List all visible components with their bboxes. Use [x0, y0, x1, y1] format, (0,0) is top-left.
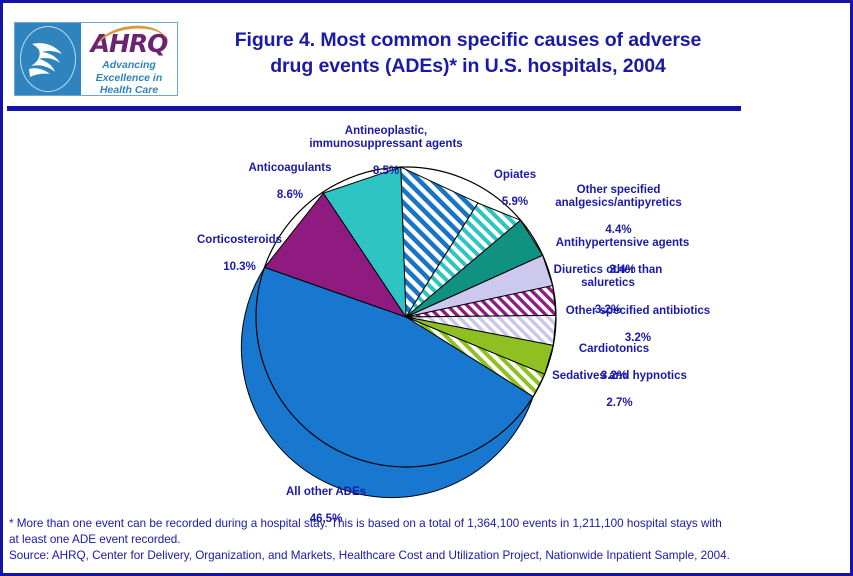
- footnote-source: Source: AHRQ, Center for Delivery, Organ…: [9, 548, 845, 564]
- label-sedatives-name: Sedatives and hypnotics: [537, 370, 702, 384]
- label-anticoagulants: Anticoagulants 8.6%: [235, 148, 345, 216]
- eagle-glyph-icon: [26, 36, 70, 82]
- pie-chart-area: Antineoplastic, immunosuppressant agents…: [3, 111, 850, 511]
- footnote-line2: at least one ADE event recorded.: [9, 532, 845, 548]
- figure-title-line2: drug events (ADEs)* in U.S. hospitals, 2…: [188, 53, 748, 79]
- ahrq-tagline-line3: Health Care: [85, 84, 173, 97]
- figure-title: Figure 4. Most common specific causes of…: [188, 27, 748, 79]
- label-cardiotonics-name: Cardiotonics: [554, 343, 674, 357]
- figure-page: AHRQ Advancing Excellence in Health Care…: [0, 0, 853, 576]
- label-sedatives: Sedatives and hypnotics 2.7%: [537, 356, 702, 424]
- label-corticosteroids-value: 10.3%: [177, 261, 302, 275]
- label-antibiotics-name: Other specified antibiotics: [558, 305, 718, 319]
- ahrq-tagline: Advancing Excellence in Health Care: [85, 59, 173, 97]
- figure-footnotes: * More than one event can be recorded du…: [9, 516, 845, 564]
- label-diuretics-name: Diuretics other than saluretics: [528, 264, 688, 291]
- ahrq-logo-text: AHRQ Advancing Excellence in Health Care: [81, 23, 177, 95]
- label-all-other-ades-name: All other ADEs: [251, 486, 401, 500]
- hhs-eagle-seal-icon: [15, 23, 81, 95]
- label-anticoagulants-value: 8.6%: [235, 189, 345, 203]
- label-sedatives-value: 2.7%: [537, 397, 702, 411]
- figure-title-line1: Figure 4. Most common specific causes of…: [188, 27, 748, 53]
- footnote-line1: * More than one event can be recorded du…: [9, 516, 845, 532]
- label-corticosteroids-name: Corticosteroids: [177, 234, 302, 248]
- ahrq-tagline-line1: Advancing: [85, 59, 173, 72]
- label-antihypertensive-name: Antihypertensive agents: [551, 237, 694, 251]
- ahrq-tagline-line2: Excellence in: [85, 72, 173, 85]
- label-corticosteroids: Corticosteroids 10.3%: [177, 220, 302, 288]
- label-anticoagulants-name: Anticoagulants: [235, 162, 345, 176]
- figure-header: AHRQ Advancing Excellence in Health Care…: [3, 3, 850, 103]
- ahrq-logo: AHRQ Advancing Excellence in Health Care: [14, 22, 178, 96]
- label-analgesics-name: Other specified analgesics/antipyretics: [526, 184, 711, 211]
